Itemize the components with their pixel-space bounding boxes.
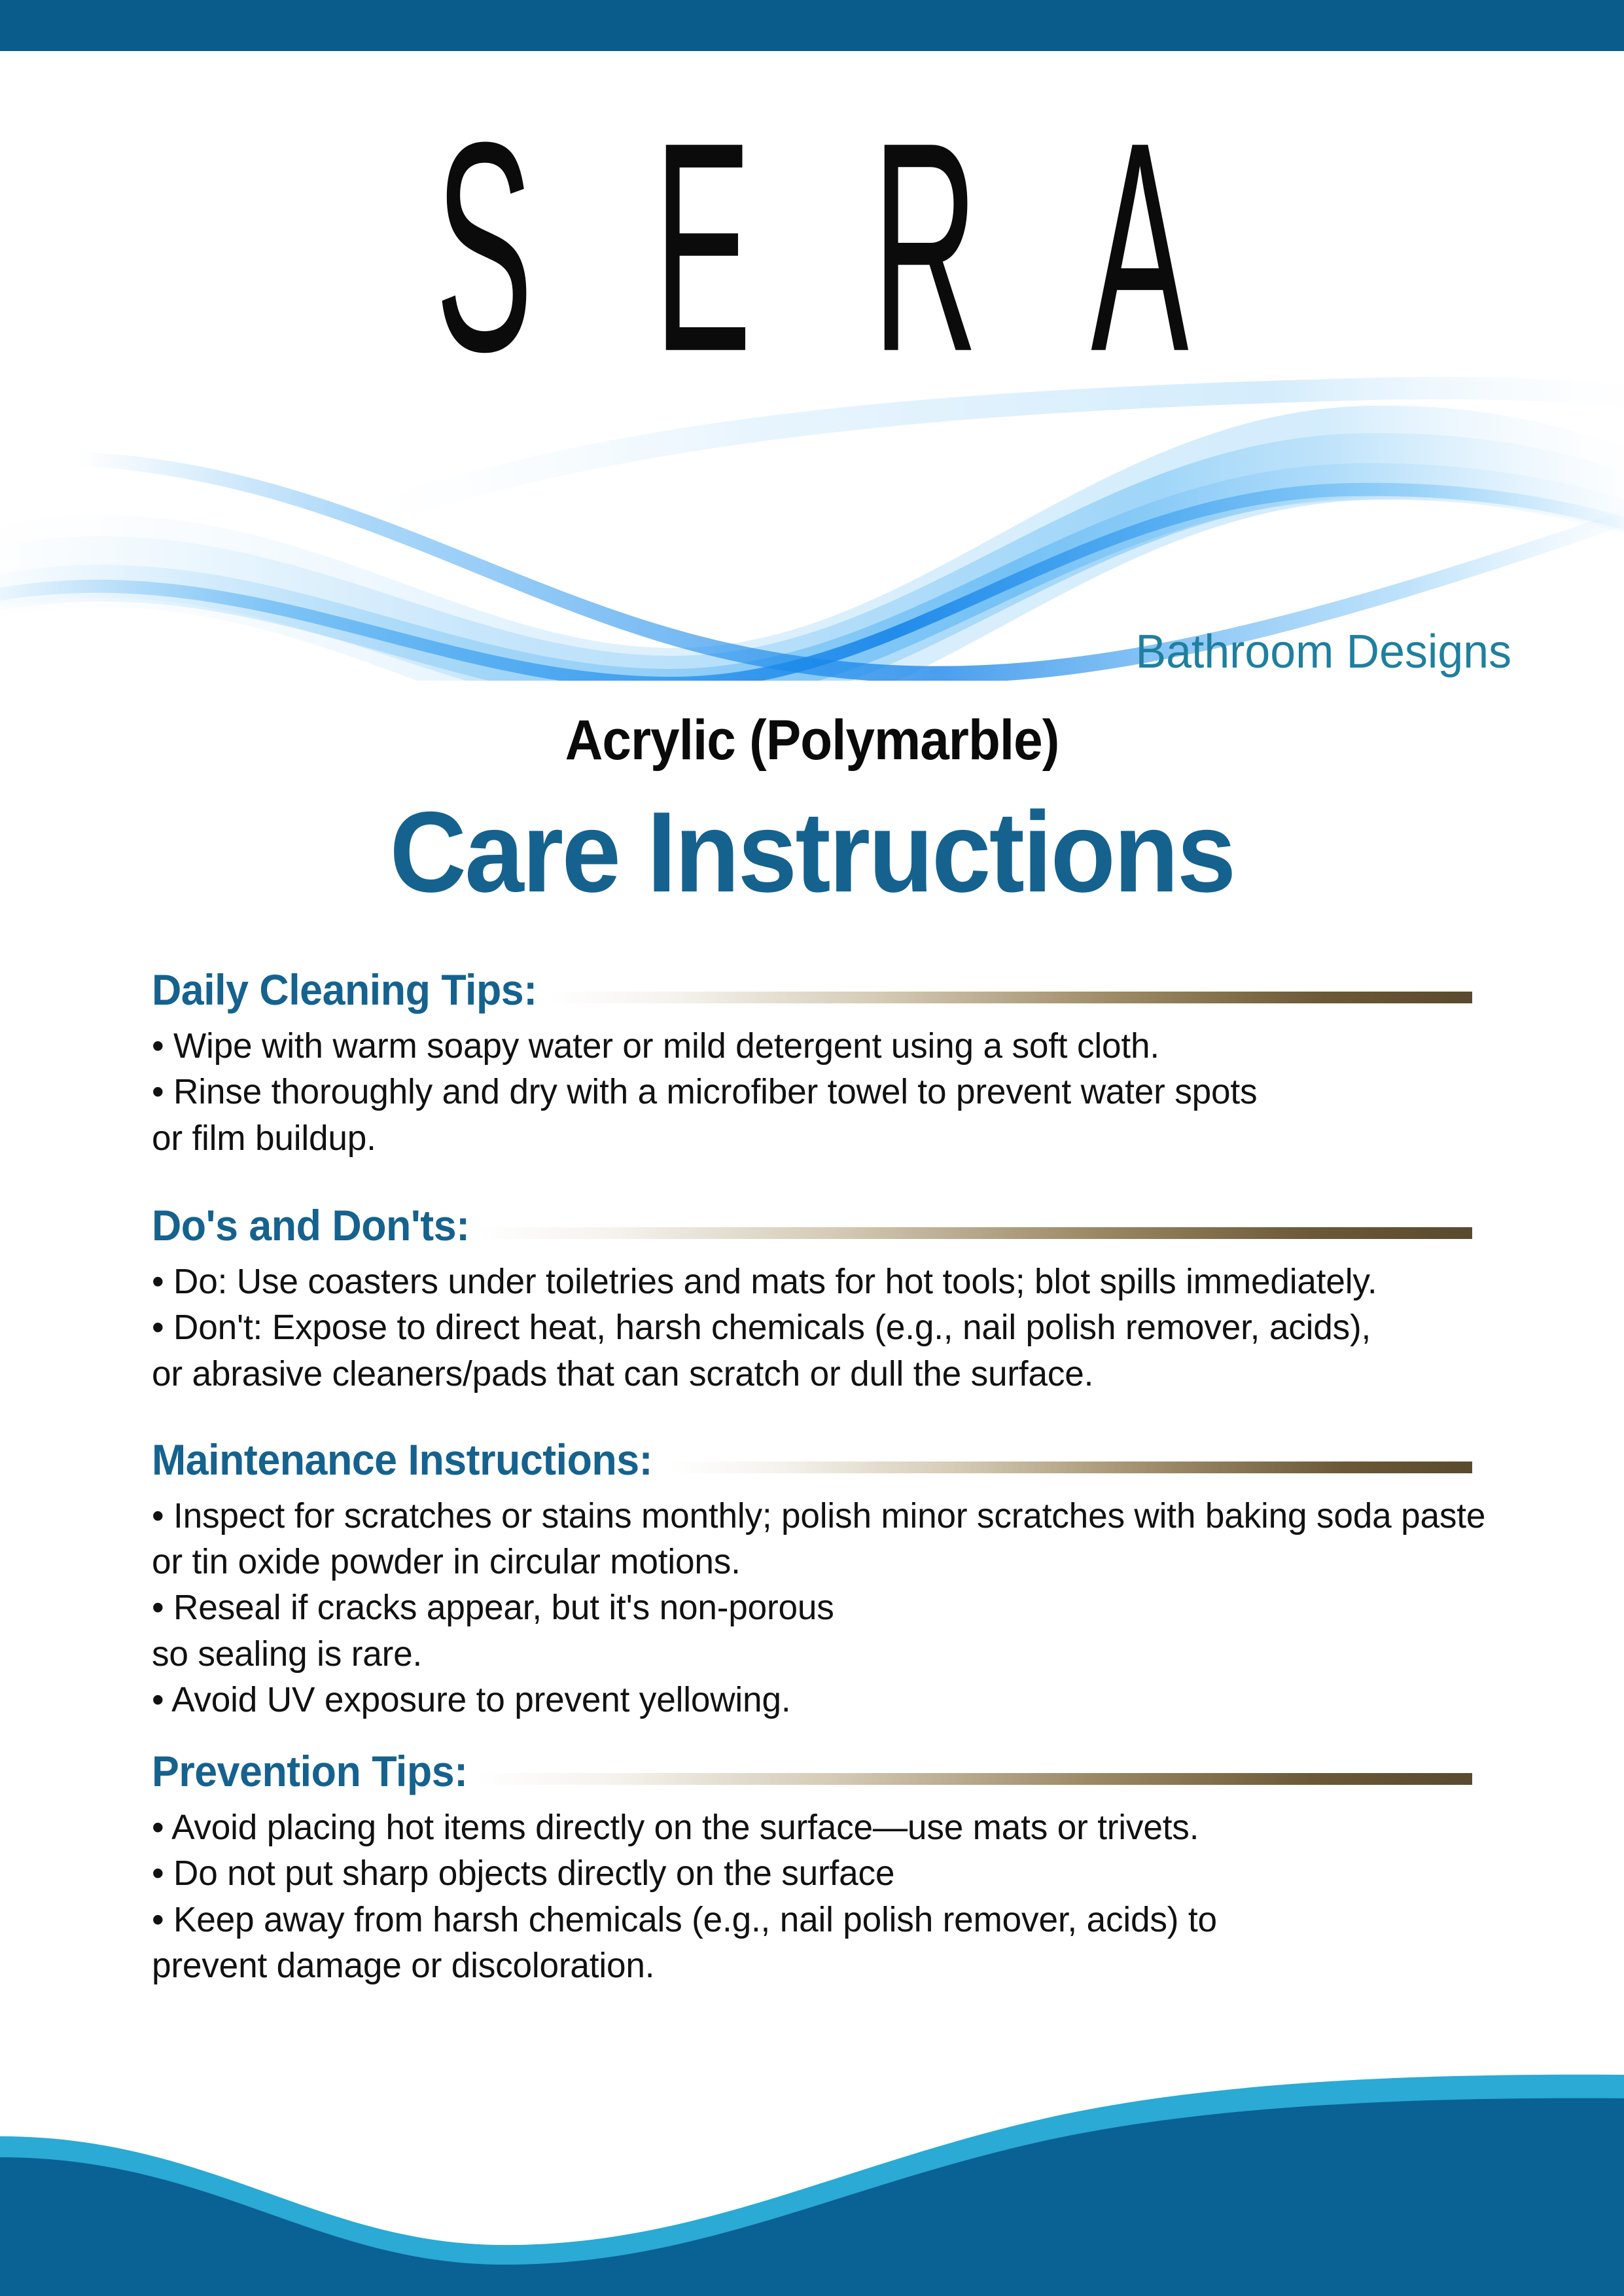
section-daily-cleaning-tips: Daily Cleaning Tips: • Wipe with warm so… bbox=[152, 967, 1472, 1161]
body-line: • Don't: Expose to direct heat, harsh ch… bbox=[152, 1304, 1453, 1350]
section-body: • Do: Use coasters under toiletries and … bbox=[152, 1259, 1472, 1397]
footer-wave-graphic bbox=[0, 2073, 1624, 2296]
document-subtitle: Acrylic (Polymarble) bbox=[57, 708, 1567, 773]
section-header: Do's and Don'ts: bbox=[152, 1203, 1472, 1248]
body-line: so sealing is rare. bbox=[152, 1631, 1453, 1677]
section-title: Do's and Don'ts: bbox=[152, 1203, 469, 1248]
section-maintenance-instructions: Maintenance Instructions: • Inspect for … bbox=[152, 1437, 1472, 1723]
body-line: • Rinse thoroughly and dry with a microf… bbox=[152, 1069, 1453, 1115]
body-line: • Keep away from harsh chemicals (e.g., … bbox=[152, 1897, 1453, 1943]
section-divider-rule bbox=[548, 992, 1472, 1003]
section-body: • Wipe with warm soapy water or mild det… bbox=[152, 1023, 1472, 1161]
body-line: • Do not put sharp objects directly on t… bbox=[152, 1850, 1453, 1896]
section-body: • Inspect for scratches or stains monthl… bbox=[152, 1493, 1472, 1723]
section-body: • Avoid placing hot items directly on th… bbox=[152, 1804, 1472, 1988]
body-line: • Avoid placing hot items directly on th… bbox=[152, 1804, 1453, 1850]
section-dos-and-donts: Do's and Don'ts: • Do: Use coasters unde… bbox=[152, 1203, 1472, 1397]
content-column: Daily Cleaning Tips: • Wipe with warm so… bbox=[152, 967, 1472, 1988]
section-title: Daily Cleaning Tips: bbox=[152, 967, 537, 1013]
body-line: • Inspect for scratches or stains monthl… bbox=[152, 1493, 1453, 1539]
section-title: Maintenance Instructions: bbox=[152, 1437, 652, 1482]
section-header: Maintenance Instructions: bbox=[152, 1437, 1472, 1482]
page-title: Care Instructions bbox=[57, 795, 1567, 910]
body-line: • Do: Use coasters under toiletries and … bbox=[152, 1259, 1453, 1304]
body-line: • Wipe with warm soapy water or mild det… bbox=[152, 1023, 1453, 1069]
body-line: • Reseal if cracks appear, but it's non-… bbox=[152, 1585, 1453, 1630]
top-accent-bar bbox=[0, 0, 1624, 51]
body-line: or film buildup. bbox=[152, 1115, 1453, 1161]
section-divider-rule bbox=[669, 1462, 1472, 1473]
section-divider-rule bbox=[477, 1227, 1472, 1239]
section-header: Prevention Tips: bbox=[152, 1749, 1472, 1794]
brand-tagline: Bathroom Designs bbox=[45, 625, 1511, 679]
section-header: Daily Cleaning Tips: bbox=[152, 967, 1472, 1013]
section-prevention-tips: Prevention Tips: • Avoid placing hot ite… bbox=[152, 1749, 1472, 1988]
section-title: Prevention Tips: bbox=[152, 1749, 467, 1794]
section-divider-rule bbox=[475, 1773, 1472, 1785]
body-line: prevent damage or discoloration. bbox=[152, 1943, 1453, 1988]
brand-wordmark: S E R A bbox=[390, 98, 1235, 397]
body-line: • Avoid UV exposure to prevent yellowing… bbox=[152, 1677, 1453, 1723]
body-line: or abrasive cleaners/pads that can scrat… bbox=[152, 1351, 1453, 1397]
body-line: or tin oxide powder in circular motions. bbox=[152, 1539, 1453, 1585]
